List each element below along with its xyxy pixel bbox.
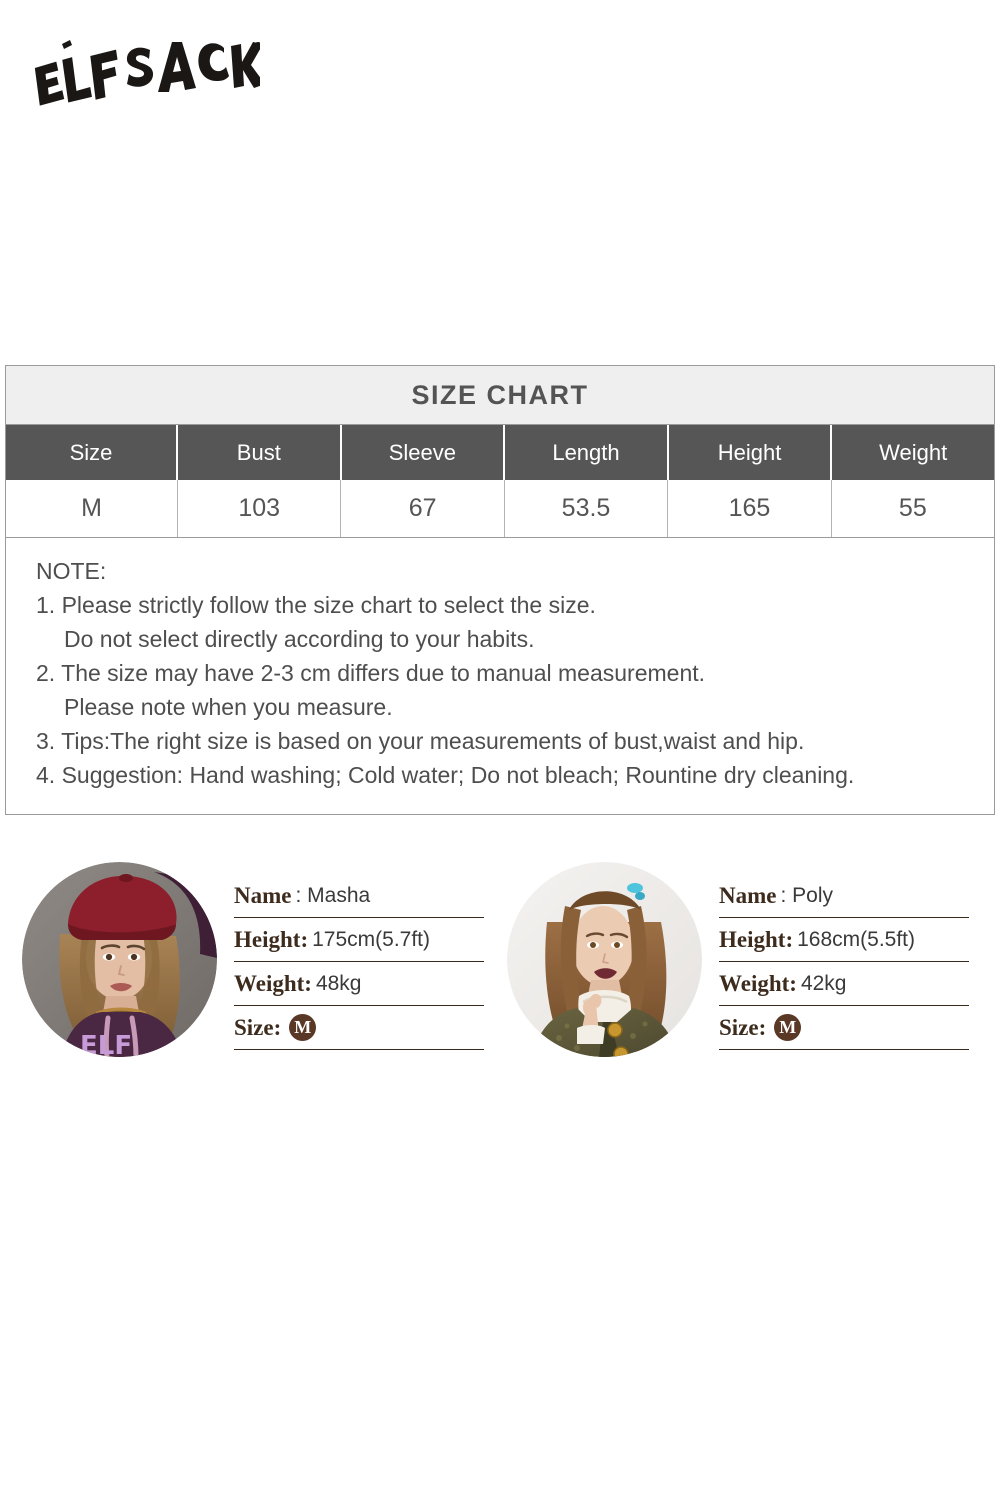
svg-text:ELF: ELF: [80, 1031, 132, 1057]
model-height-value: 175cm(5.7ft): [312, 928, 430, 952]
model-height-row: Height: 168cm(5.5ft): [719, 918, 969, 962]
model-name-value: : Poly: [780, 884, 833, 908]
size-badge: M: [289, 1014, 316, 1041]
brand-logo: [30, 30, 260, 110]
model-height-label: Height:: [719, 927, 793, 953]
model-weight-value: 42kg: [801, 972, 847, 996]
model-photo-masha: ELF: [22, 862, 217, 1057]
model-name-value: : Masha: [295, 884, 370, 908]
model-photo-poly: [507, 862, 702, 1057]
model-size-label: Size:: [719, 1015, 766, 1041]
note-line-4: 4. Suggestion: Hand washing; Cold water;…: [36, 758, 994, 792]
table-row: M 103 67 53.5 165 55: [6, 480, 994, 538]
note-heading: NOTE:: [36, 554, 994, 588]
model-height-row: Height: 175cm(5.7ft): [234, 918, 484, 962]
model-weight-row: Weight: 48kg: [234, 962, 484, 1006]
model-size-row: Size: M: [234, 1006, 484, 1050]
model-size-row: Size: M: [719, 1006, 969, 1050]
column-header-weight: Weight: [832, 425, 994, 480]
model-name-label: Name: [719, 883, 776, 909]
size-chart-title-row: SIZE CHART: [6, 366, 994, 425]
model-profile-card: ELF Name : Masha Height: 175cm(5.7ft) We…: [22, 862, 502, 1062]
elfsack-logo-icon: [30, 30, 260, 110]
model-profile-card: Name : Poly Height: 168cm(5.5ft) Weight:…: [507, 862, 987, 1062]
model-weight-value: 48kg: [316, 972, 362, 996]
cell-length: 53.5: [505, 480, 668, 537]
size-badge: M: [774, 1014, 801, 1041]
model-weight-row: Weight: 42kg: [719, 962, 969, 1006]
model-name-row: Name : Poly: [719, 874, 969, 918]
column-header-size: Size: [6, 425, 178, 480]
model-weight-label: Weight:: [234, 971, 312, 997]
model-info-list: Name : Poly Height: 168cm(5.5ft) Weight:…: [719, 874, 969, 1050]
cell-size: M: [6, 480, 178, 537]
note-line-3: 3. Tips:The right size is based on your …: [36, 724, 994, 758]
model-height-label: Height:: [234, 927, 308, 953]
note-line-2: 2. The size may have 2-3 cm differs due …: [36, 656, 994, 690]
column-header-length: Length: [505, 425, 669, 480]
size-chart-table: SIZE CHART Size Bust Sleeve Length Heigh…: [5, 365, 995, 815]
model-info-list: Name : Masha Height: 175cm(5.7ft) Weight…: [234, 874, 484, 1050]
note-block: NOTE: 1. Please strictly follow the size…: [6, 538, 994, 814]
cell-weight: 55: [832, 480, 994, 537]
size-chart-title: SIZE CHART: [412, 380, 589, 411]
note-line-1: 1. Please strictly follow the size chart…: [36, 588, 994, 622]
model-height-value: 168cm(5.5ft): [797, 928, 915, 952]
column-header-bust: Bust: [178, 425, 342, 480]
note-line-1b: Do not select directly according to your…: [36, 622, 994, 656]
column-header-height: Height: [669, 425, 833, 480]
cell-height: 165: [668, 480, 831, 537]
cell-sleeve: 67: [341, 480, 504, 537]
column-header-sleeve: Sleeve: [342, 425, 506, 480]
model-weight-label: Weight:: [719, 971, 797, 997]
cell-bust: 103: [178, 480, 341, 537]
size-chart-header-row: Size Bust Sleeve Length Height Weight: [6, 425, 994, 480]
note-line-2b: Please note when you measure.: [36, 690, 994, 724]
model-name-label: Name: [234, 883, 291, 909]
model-size-label: Size:: [234, 1015, 281, 1041]
model-name-row: Name : Masha: [234, 874, 484, 918]
